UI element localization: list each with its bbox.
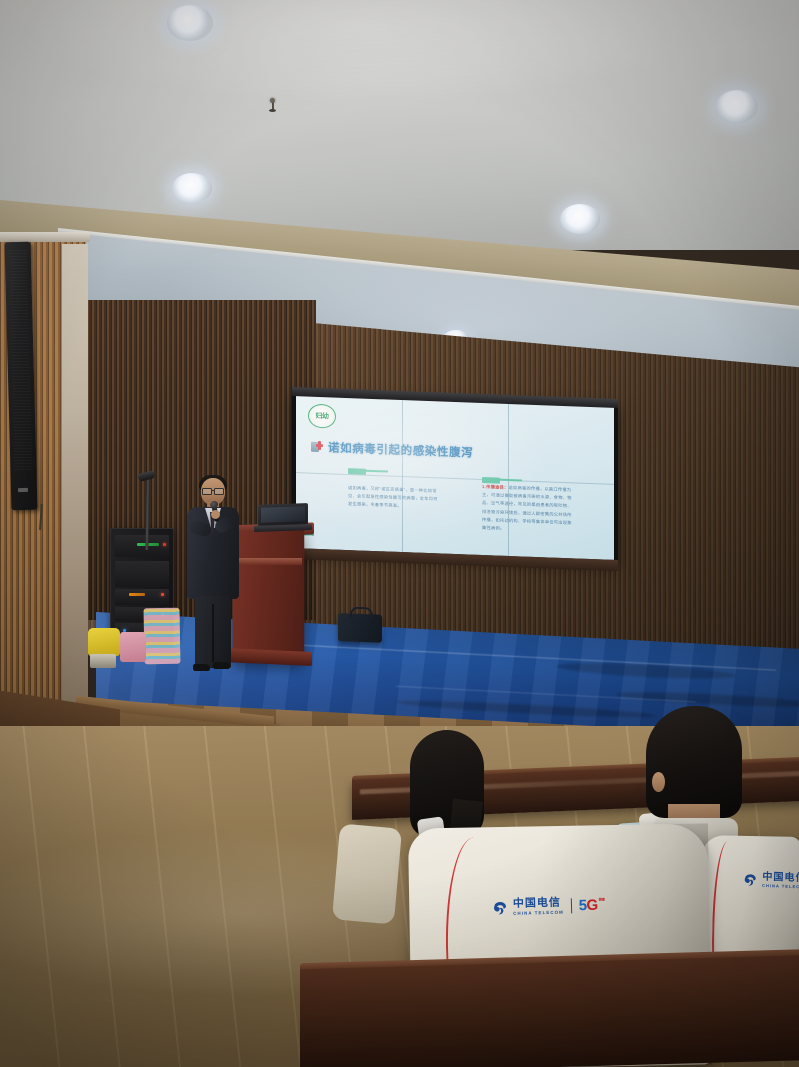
yellow-stool [88, 628, 120, 656]
laptop-base [254, 524, 312, 532]
downlight [167, 5, 213, 41]
presenter-hand [211, 510, 220, 519]
logo-divider [571, 898, 572, 913]
rack-amber-display [129, 593, 145, 596]
brand-name-cn: 中国电信 [513, 898, 564, 910]
laptop-bag [338, 613, 382, 643]
five-g-badge: 5G 极速 [579, 897, 605, 915]
slide-title-row: 诺如病毒引起的感染性腹泻 [311, 439, 473, 461]
five-g-superscript: 极速 [599, 897, 605, 902]
institution-logo-icon: 妇幼 [308, 404, 336, 429]
rack-led [163, 543, 166, 546]
sprinkler-head [270, 98, 275, 111]
rack-led [161, 593, 164, 596]
tarp-fold [556, 660, 736, 681]
downlight [560, 204, 600, 234]
presenter-leg-split [212, 604, 214, 662]
china-telecom-wordmark: 中国电信 CHINA TELECOM [513, 898, 564, 916]
slide-title: 诺如病毒引起的感染性腹泻 [328, 439, 473, 460]
attendee-front-right-head [646, 706, 742, 818]
speaker-badge [18, 488, 28, 492]
presenter-shoe [213, 662, 230, 669]
slide-body-left: 诺如病毒，又称"诺瓦克病毒"，是一种比较常见、会引起急性感染性腹泻的病毒，全年均… [348, 484, 442, 512]
lecture-hall-photo: 妇幼 诺如病毒引起的感染性腹泻 诺如病毒，又称"诺瓦克病毒"，是一种比较常见、会… [0, 0, 799, 1067]
china-telecom-logo-left: 中国电信 CHINA TELECOM 5G 极速 [492, 897, 605, 917]
slide-body-right-text: 诺如病毒的传播，以粪口传播为主，可通过摄取被病毒污染的水源、食物、物品、空气等途… [482, 485, 572, 531]
led-video-wall[interactable]: 妇幼 诺如病毒引起的感染性腹泻 诺如病毒，又称"诺瓦克病毒"，是一种比较常见、会… [292, 392, 618, 564]
rack-unit [115, 561, 169, 587]
podium [233, 529, 305, 663]
china-telecom-mark-icon [492, 899, 509, 916]
attendee-front-left-head [410, 730, 484, 838]
presenter-shoe [193, 664, 210, 671]
downlight [716, 90, 758, 123]
slide-logo-text: 妇幼 [316, 411, 329, 421]
slide-surface: 妇幼 诺如病毒引起的感染性腹泻 诺如病毒，又称"诺瓦克病毒"，是一种比较常见、会… [296, 396, 614, 560]
slide-body-right: 1.传播途径：诺如病毒的传播，以粪口传播为主，可通过摄取被病毒污染的水源、食物、… [482, 483, 576, 536]
tarp-highlight [256, 642, 776, 670]
downlight [172, 173, 212, 203]
china-telecom-logo-right: 中国电信 CHINA TELECOM [743, 872, 799, 890]
five-g-text: 5G [579, 897, 598, 914]
panel-seam-horizontal [296, 472, 614, 485]
laptop-screen [261, 506, 305, 523]
glasses-icon [202, 488, 224, 493]
tarp-highlight [396, 686, 696, 703]
attendee-hair [646, 706, 742, 818]
slide-accent-tab-left [348, 468, 366, 475]
left-column-cap [0, 232, 90, 242]
presenter-laptop[interactable] [254, 503, 310, 533]
rack-unit [115, 535, 169, 557]
rack-unit [115, 589, 169, 605]
medical-book-icon [311, 441, 324, 453]
attendee-ear [652, 772, 665, 792]
brand-name-cn: 中国电信 [762, 872, 799, 884]
presenter [185, 478, 241, 668]
podium-trim [234, 558, 302, 565]
slide-body-right-heading: 1.传播途径： [482, 484, 509, 490]
china-telecom-mark-icon [743, 872, 759, 888]
attendee-left-sleeve [332, 823, 402, 924]
bench-front-row [300, 955, 799, 1067]
pink-stool [120, 632, 146, 662]
china-telecom-wordmark: 中国电信 CHINA TELECOM [762, 872, 799, 889]
stacked-plastic-stools [144, 608, 181, 665]
